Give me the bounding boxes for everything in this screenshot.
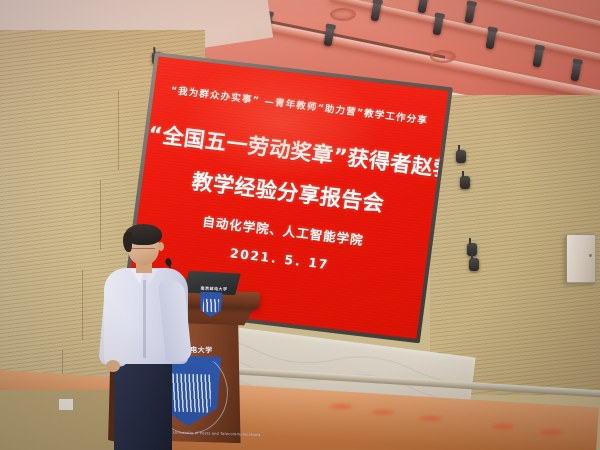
floor-reflection-5 [540, 430, 562, 435]
presenter-hand [106, 360, 120, 372]
wall-seam-1 [118, 90, 119, 170]
ceiling-ring-light-1 [330, 8, 356, 21]
presenter-shirt-placket [143, 280, 146, 358]
presenter-sideburn [123, 232, 132, 252]
stage-light-4 [469, 258, 479, 271]
presenter-ear [158, 242, 164, 251]
wall-seam-3 [82, 270, 83, 340]
wall-mounted-loudspeaker [566, 234, 596, 283]
shield-icon [200, 292, 223, 318]
photo-scene: “我为群众办实事” —青年教师“助力营”教学工作分享 “全国五一劳动奖章”获得者… [0, 0, 600, 450]
floor-reflection-4 [492, 424, 514, 429]
ceiling-spotlight-4 [370, 1, 381, 21]
floor-reflection-3 [420, 416, 442, 421]
floor-reflection-2 [372, 410, 394, 415]
ceiling-spotlight-5 [432, 15, 443, 35]
stage-light-1 [456, 150, 466, 163]
wall-power-outlet [58, 398, 74, 411]
presenter-trousers [114, 360, 172, 450]
podium-top-emblem: 南京邮电大学 [200, 292, 223, 318]
ceiling-ring-light-2 [430, 50, 456, 63]
ceiling-spotlight-6 [485, 29, 496, 49]
podium-top-emblem-name-cn: 南京邮电大学 [200, 286, 222, 293]
ceiling-spotlight-10 [464, 3, 475, 23]
ceiling-spotlight-8 [570, 61, 581, 81]
ceiling-spotlight-9 [417, 0, 428, 14]
presenter-figure [96, 224, 196, 450]
screen-subtitle: “我为群众办实事” —青年教师“助力营”教学工作分享 [154, 80, 446, 128]
floor-reflection-1 [330, 404, 352, 409]
stage-light-2 [460, 176, 470, 189]
ceiling-spotlight-7 [532, 47, 543, 67]
